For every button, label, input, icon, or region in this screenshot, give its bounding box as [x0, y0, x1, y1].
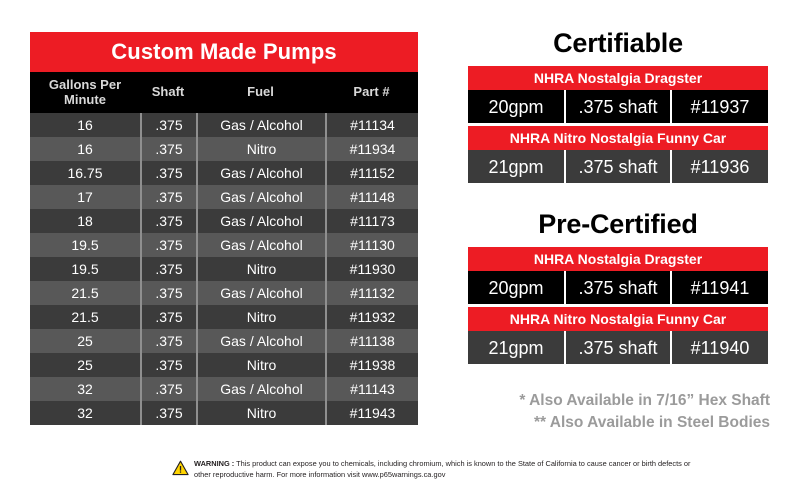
cell-fuel: Nitro [196, 401, 325, 425]
table-row: 19.5.375Gas / Alcohol#11130 [30, 233, 418, 257]
cell-part-number: #11143 [325, 377, 418, 401]
cell-part-number: #11936 [670, 150, 768, 183]
certifiable-table: NHRA Nostalgia Dragster20gpm.375 shaft#1… [468, 66, 768, 183]
cell-gallons-per-minute: 21.5 [30, 305, 140, 329]
cell-part-number: #11930 [325, 257, 418, 281]
prop65-warning-text: WARNING : This product can expose you to… [194, 459, 692, 480]
cell-gallons-per-minute: 19.5 [30, 233, 140, 257]
table-row: 32.375Gas / Alcohol#11143 [30, 377, 418, 401]
prop65-warning: WARNING : This product can expose you to… [172, 459, 692, 481]
cell-part-number: #11940 [670, 331, 768, 364]
cell-gallons-per-minute: 32 [30, 401, 140, 425]
table-row: 21.5.375Nitro#11932 [30, 305, 418, 329]
cell-gallons-per-minute: 18 [30, 209, 140, 233]
table-row: 21gpm.375 shaft#11936 [468, 150, 768, 183]
cell-shaft: .375 [140, 233, 196, 257]
cell-gpm: 21gpm [468, 331, 564, 364]
table-row: 20gpm.375 shaft#11937 [468, 90, 768, 123]
cell-gallons-per-minute: 16 [30, 137, 140, 161]
cell-part-number: #11173 [325, 209, 418, 233]
pumps-table-header-row: Gallons Per Minute Shaft Fuel Part # [30, 72, 418, 113]
certifiable-section-title: Certifiable [468, 28, 768, 59]
cell-fuel: Gas / Alcohol [196, 161, 325, 185]
cell-part-number: #11132 [325, 281, 418, 305]
cell-fuel: Gas / Alcohol [196, 329, 325, 353]
cell-shaft: .375 shaft [564, 90, 670, 123]
prop65-warning-body: This product can expose you to chemicals… [194, 459, 691, 479]
table-row: 16.375Nitro#11934 [30, 137, 418, 161]
cell-fuel: Nitro [196, 257, 325, 281]
cell-shaft: .375 [140, 377, 196, 401]
cell-part-number: #11138 [325, 329, 418, 353]
cell-fuel: Gas / Alcohol [196, 113, 325, 137]
pumps-table-body: 16.375Gas / Alcohol#1113416.375Nitro#119… [30, 113, 418, 425]
cell-gallons-per-minute: 17 [30, 185, 140, 209]
group-header: NHRA Nitro Nostalgia Funny Car [468, 126, 768, 150]
group-header: NHRA Nostalgia Dragster [468, 66, 768, 90]
cell-shaft: .375 [140, 113, 196, 137]
cell-shaft: .375 shaft [564, 150, 670, 183]
column-header-part-number: Part # [325, 72, 418, 113]
cell-shaft: .375 [140, 137, 196, 161]
cell-part-number: #11148 [325, 185, 418, 209]
table-row: 20gpm.375 shaft#11941 [468, 271, 768, 304]
cell-part-number: #11943 [325, 401, 418, 425]
table-row: 18.375Gas / Alcohol#11173 [30, 209, 418, 233]
cell-fuel: Nitro [196, 305, 325, 329]
table-row: 25.375Gas / Alcohol#11138 [30, 329, 418, 353]
cell-part-number: #11941 [670, 271, 768, 304]
precertified-section-title: Pre-Certified [468, 209, 768, 240]
cell-gallons-per-minute: 19.5 [30, 257, 140, 281]
cell-fuel: Gas / Alcohol [196, 281, 325, 305]
cell-fuel: Gas / Alcohol [196, 209, 325, 233]
cell-gpm: 20gpm [468, 271, 564, 304]
cell-gallons-per-minute: 32 [30, 377, 140, 401]
cell-part-number: #11152 [325, 161, 418, 185]
cell-shaft: .375 [140, 305, 196, 329]
cell-gallons-per-minute: 25 [30, 329, 140, 353]
cell-fuel: Nitro [196, 353, 325, 377]
cell-shaft: .375 shaft [564, 271, 670, 304]
cell-shaft: .375 [140, 329, 196, 353]
cell-part-number: #11937 [670, 90, 768, 123]
table-row: 21gpm.375 shaft#11940 [468, 331, 768, 364]
cell-shaft: .375 [140, 209, 196, 233]
cell-gpm: 20gpm [468, 90, 564, 123]
table-row: 21.5.375Gas / Alcohol#11132 [30, 281, 418, 305]
cell-fuel: Nitro [196, 137, 325, 161]
cell-shaft: .375 [140, 401, 196, 425]
table-row: 16.75.375Gas / Alcohol#11152 [30, 161, 418, 185]
cell-shaft: .375 [140, 353, 196, 377]
group-header: NHRA Nostalgia Dragster [468, 247, 768, 271]
cell-part-number: #11934 [325, 137, 418, 161]
cell-shaft: .375 [140, 185, 196, 209]
precertified-table: NHRA Nostalgia Dragster20gpm.375 shaft#1… [468, 247, 768, 364]
column-header-fuel: Fuel [196, 72, 325, 113]
cell-gallons-per-minute: 16 [30, 113, 140, 137]
cell-part-number: #11134 [325, 113, 418, 137]
availability-footnotes: * Also Available in 7/16” Hex Shaft ** A… [448, 390, 770, 435]
cell-fuel: Gas / Alcohol [196, 377, 325, 401]
pumps-table-title: Custom Made Pumps [30, 32, 418, 72]
table-row: 32.375Nitro#11943 [30, 401, 418, 425]
cell-gallons-per-minute: 21.5 [30, 281, 140, 305]
cell-fuel: Gas / Alcohol [196, 233, 325, 257]
column-header-gallons-per-minute: Gallons Per Minute [30, 72, 140, 113]
column-header-shaft: Shaft [140, 72, 196, 113]
cell-shaft: .375 shaft [564, 331, 670, 364]
table-row: 17.375Gas / Alcohol#11148 [30, 185, 418, 209]
footnote-hex-shaft: * Also Available in 7/16” Hex Shaft [448, 390, 770, 412]
group-header: NHRA Nitro Nostalgia Funny Car [468, 307, 768, 331]
cell-gallons-per-minute: 25 [30, 353, 140, 377]
cell-part-number: #11932 [325, 305, 418, 329]
cell-part-number: #11130 [325, 233, 418, 257]
cell-gallons-per-minute: 16.75 [30, 161, 140, 185]
cell-gpm: 21gpm [468, 150, 564, 183]
cell-part-number: #11938 [325, 353, 418, 377]
footnote-steel-bodies: ** Also Available in Steel Bodies [448, 412, 770, 434]
warning-triangle-icon [172, 460, 189, 481]
cell-shaft: .375 [140, 257, 196, 281]
cell-shaft: .375 [140, 161, 196, 185]
cell-shaft: .375 [140, 281, 196, 305]
cell-fuel: Gas / Alcohol [196, 185, 325, 209]
table-row: 16.375Gas / Alcohol#11134 [30, 113, 418, 137]
custom-made-pumps-table: Custom Made Pumps Gallons Per Minute Sha… [30, 32, 418, 425]
table-row: 25.375Nitro#11938 [30, 353, 418, 377]
prop65-warning-label: WARNING : [194, 459, 234, 468]
table-row: 19.5.375Nitro#11930 [30, 257, 418, 281]
